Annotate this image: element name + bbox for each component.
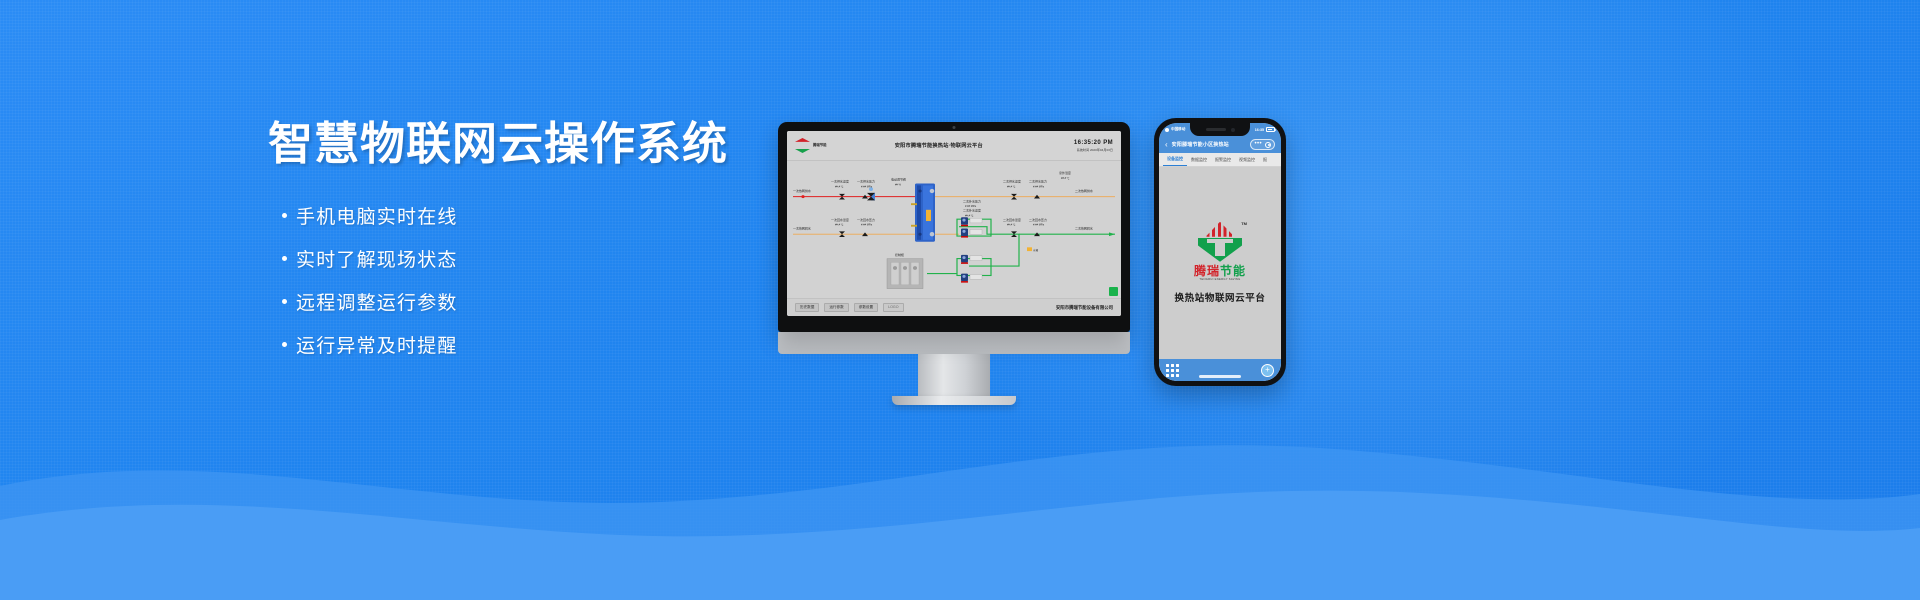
- monitor-bezel: 腾瑞节能 安阳市腾瑞节能换热站·物联网云平台 16:35:20 PM 系统时间 …: [778, 122, 1130, 332]
- brand-name-part1: 腾瑞: [1194, 264, 1220, 278]
- phone-content: TM 腾瑞节能 TENGRUI ENERGY SAVING 换热站物联网云平台 …: [1159, 167, 1281, 381]
- svg-text:#.## MPa: #.## MPa: [1033, 185, 1045, 188]
- svg-text:一次回水温度: 一次回水温度: [831, 217, 849, 222]
- page-title-light: 操作系统: [544, 118, 728, 169]
- svg-text:水箱: 水箱: [1033, 248, 1039, 252]
- logo-placeholder-button[interactable]: LOGO: [883, 303, 903, 313]
- page-title-strong: 智慧物联网云: [268, 118, 544, 169]
- svg-text:一次热网供水: 一次热网供水: [793, 188, 811, 193]
- status-right: 16:35: [1255, 127, 1275, 132]
- svg-text:一次回水压力: 一次回水压力: [857, 217, 875, 222]
- clock-date: 系统时间 2020年04月03日: [1051, 147, 1113, 152]
- svg-text:## %: ## %: [895, 183, 902, 186]
- svg-text:#.## MPa: #.## MPa: [861, 224, 873, 227]
- grid-menu-icon[interactable]: [1166, 364, 1179, 377]
- bullet-dot-icon: [282, 299, 287, 304]
- clock-widget: 16:35:20 PM 系统时间 2020年04月03日: [1051, 140, 1113, 152]
- webcam-icon: [953, 126, 956, 129]
- svg-text:##.# ℃: ##.# ℃: [1061, 176, 1070, 180]
- status-badge: [1109, 287, 1118, 296]
- scada-app: 腾瑞节能 安阳市腾瑞节能换热站·物联网云平台 16:35:20 PM 系统时间 …: [787, 131, 1121, 316]
- monitor-screen: 腾瑞节能 安阳市腾瑞节能换热站·物联网云平台 16:35:20 PM 系统时间 …: [787, 131, 1121, 316]
- svg-text:电动调节阀: 电动调节阀: [891, 177, 906, 182]
- logo-bottom-shape: [795, 146, 810, 154]
- brand-name: 腾瑞节能: [1194, 265, 1246, 277]
- tab-overflow[interactable]: 报: [1259, 153, 1271, 166]
- logo-text: 腾瑞节能: [813, 144, 827, 148]
- plus-icon[interactable]: +: [1261, 364, 1274, 377]
- svg-text:##.# ℃: ##.# ℃: [1007, 223, 1016, 227]
- status-left: 中国移动: [1165, 127, 1185, 132]
- svg-text:二次供水温度: 二次供水温度: [1003, 179, 1021, 184]
- bullet-dot-icon: [282, 213, 287, 218]
- svg-text:##.# ℃: ##.# ℃: [965, 213, 974, 217]
- desktop-mockup: 腾瑞节能 安阳市腾瑞节能换热站·物联网云平台 16:35:20 PM 系统时间 …: [778, 122, 1130, 405]
- run-params-button[interactable]: 运行参数: [824, 303, 848, 313]
- page-title: 智慧物联网云操作系统: [268, 118, 788, 170]
- phone-notch: [1190, 123, 1250, 136]
- company-name: 安阳市腾瑞节能设备有限公司: [1056, 305, 1113, 311]
- brand-block: TM 腾瑞节能 TENGRUI ENERGY SAVING 换热站物联网云平台: [1175, 222, 1266, 305]
- svg-text:控制柜: 控制柜: [895, 252, 904, 257]
- list-item: 实时了解现场状态: [282, 237, 788, 280]
- chevron-left-icon[interactable]: ‹: [1165, 141, 1168, 149]
- history-data-button[interactable]: 历史数据: [795, 303, 819, 313]
- param-settings-button[interactable]: 参数设置: [854, 303, 878, 313]
- feature-label: 运行异常及时提醒: [296, 331, 458, 358]
- bullet-dot-icon: [282, 256, 287, 261]
- trademark-label: TM: [1241, 221, 1247, 226]
- monitor-stand-top: [778, 332, 1130, 354]
- brand-name-en: TENGRUI ENERGY SAVING: [1199, 278, 1240, 281]
- tab-video-monitor[interactable]: 视频监控: [1235, 153, 1259, 166]
- list-item: 手机电脑实时在线: [282, 194, 788, 237]
- svg-text:二次回水压力: 二次回水压力: [1029, 217, 1047, 222]
- logo-diamond-icon: [795, 138, 810, 153]
- tab-device-monitor[interactable]: 设备监控: [1163, 153, 1187, 166]
- brand-name-part2: 节能: [1220, 264, 1246, 278]
- svg-text:一次热网回水: 一次热网回水: [793, 226, 811, 231]
- phone-mockup: 中国移动 16:35 ‹ 安阳滕瑞节能小区换热站 •••: [1154, 118, 1286, 386]
- svg-text:#.## MPa: #.## MPa: [861, 185, 873, 188]
- feature-label: 手机电脑实时在线: [296, 202, 458, 229]
- monitor-foot: [892, 396, 1016, 405]
- ellipsis-icon[interactable]: •••: [1254, 142, 1262, 146]
- logo-top-shape: [795, 138, 810, 146]
- svg-text:二次热网回水: 二次热网回水: [1075, 226, 1093, 231]
- home-indicator: [1199, 375, 1241, 378]
- logo-red-rays: [1201, 222, 1239, 237]
- brand-logo-icon: TM: [1197, 222, 1243, 262]
- phone-screen: 中国移动 16:35 ‹ 安阳滕瑞节能小区换热站 •••: [1159, 123, 1281, 381]
- scada-title: 安阳市腾瑞节能换热站·物联网云平台: [827, 142, 1051, 149]
- svg-text:二次补水温度: 二次补水温度: [963, 208, 981, 213]
- svg-text:室外温度: 室外温度: [1059, 170, 1071, 175]
- list-item: 运行异常及时提醒: [282, 323, 788, 366]
- process-diagram[interactable]: 一次热网供水 一次供水温度 ##.# ℃ 一次供水压力 #.## MPa 电动调…: [787, 161, 1121, 298]
- brand-slogan: 换热站物联网云平台: [1175, 290, 1266, 304]
- svg-text:#.## MPa: #.## MPa: [965, 205, 977, 208]
- phone-tab-bar[interactable]: 设备监控 数据监控 报警监控 视频监控 报: [1159, 153, 1281, 167]
- svg-text:##.# ℃: ##.# ℃: [835, 184, 844, 188]
- svg-text:一次供水温度: 一次供水温度: [831, 179, 849, 184]
- svg-text:##.# ℃: ##.# ℃: [835, 223, 844, 227]
- battery-icon: [1266, 127, 1275, 132]
- phone-nav-title: 安阳滕瑞节能小区换热站: [1172, 141, 1247, 148]
- svg-text:二次回水温度: 二次回水温度: [1003, 217, 1021, 222]
- speaker-icon: [1206, 128, 1226, 131]
- hero-copy: 智慧物联网云操作系统 手机电脑实时在线 实时了解现场状态 远程调整运行参数 运行…: [268, 118, 788, 366]
- svg-text:二次热网供水: 二次热网供水: [1075, 188, 1093, 193]
- list-item: 远程调整运行参数: [282, 280, 788, 323]
- status-time: 16:35: [1255, 128, 1264, 132]
- scada-header: 腾瑞节能 安阳市腾瑞节能换热站·物联网云平台 16:35:20 PM 系统时间 …: [787, 131, 1121, 161]
- phone-nav-bar: ‹ 安阳滕瑞节能小区换热站 •••: [1159, 136, 1281, 153]
- signal-icon: [1165, 128, 1169, 132]
- feature-label: 实时了解现场状态: [296, 245, 458, 272]
- tab-alarm-monitor[interactable]: 报警监控: [1211, 153, 1235, 166]
- feature-list: 手机电脑实时在线 实时了解现场状态 远程调整运行参数 运行异常及时提醒: [268, 194, 788, 366]
- hero-banner: 智慧物联网云操作系统 手机电脑实时在线 实时了解现场状态 远程调整运行参数 运行…: [0, 0, 1920, 600]
- svg-text:二次补水压力: 二次补水压力: [963, 198, 981, 203]
- logo-slot-cut: [1215, 239, 1225, 256]
- front-camera-icon: [1231, 128, 1235, 132]
- target-icon[interactable]: [1265, 142, 1271, 148]
- company-logo: 腾瑞节能: [795, 138, 827, 153]
- device-mockups: 腾瑞节能 安阳市腾瑞节能换热站·物联网云平台 16:35:20 PM 系统时间 …: [760, 0, 1380, 600]
- svg-text:一次供水压力: 一次供水压力: [857, 179, 875, 184]
- svg-text:##.# ℃: ##.# ℃: [1007, 184, 1016, 188]
- nav-actions[interactable]: •••: [1250, 139, 1275, 150]
- carrier-label: 中国移动: [1171, 127, 1185, 132]
- bullet-dot-icon: [282, 342, 287, 347]
- svg-text:#.## MPa: #.## MPa: [1033, 224, 1045, 227]
- svg-text:二次供水压力: 二次供水压力: [1029, 179, 1047, 184]
- feature-label: 远程调整运行参数: [296, 288, 458, 315]
- scada-footer: 历史数据 运行参数 参数设置 LOGO 安阳市腾瑞节能设备有限公司: [787, 298, 1121, 316]
- tab-data-monitor[interactable]: 数据监控: [1187, 153, 1211, 166]
- clock-time: 16:35:20 PM: [1051, 140, 1113, 146]
- monitor-neck: [918, 354, 990, 396]
